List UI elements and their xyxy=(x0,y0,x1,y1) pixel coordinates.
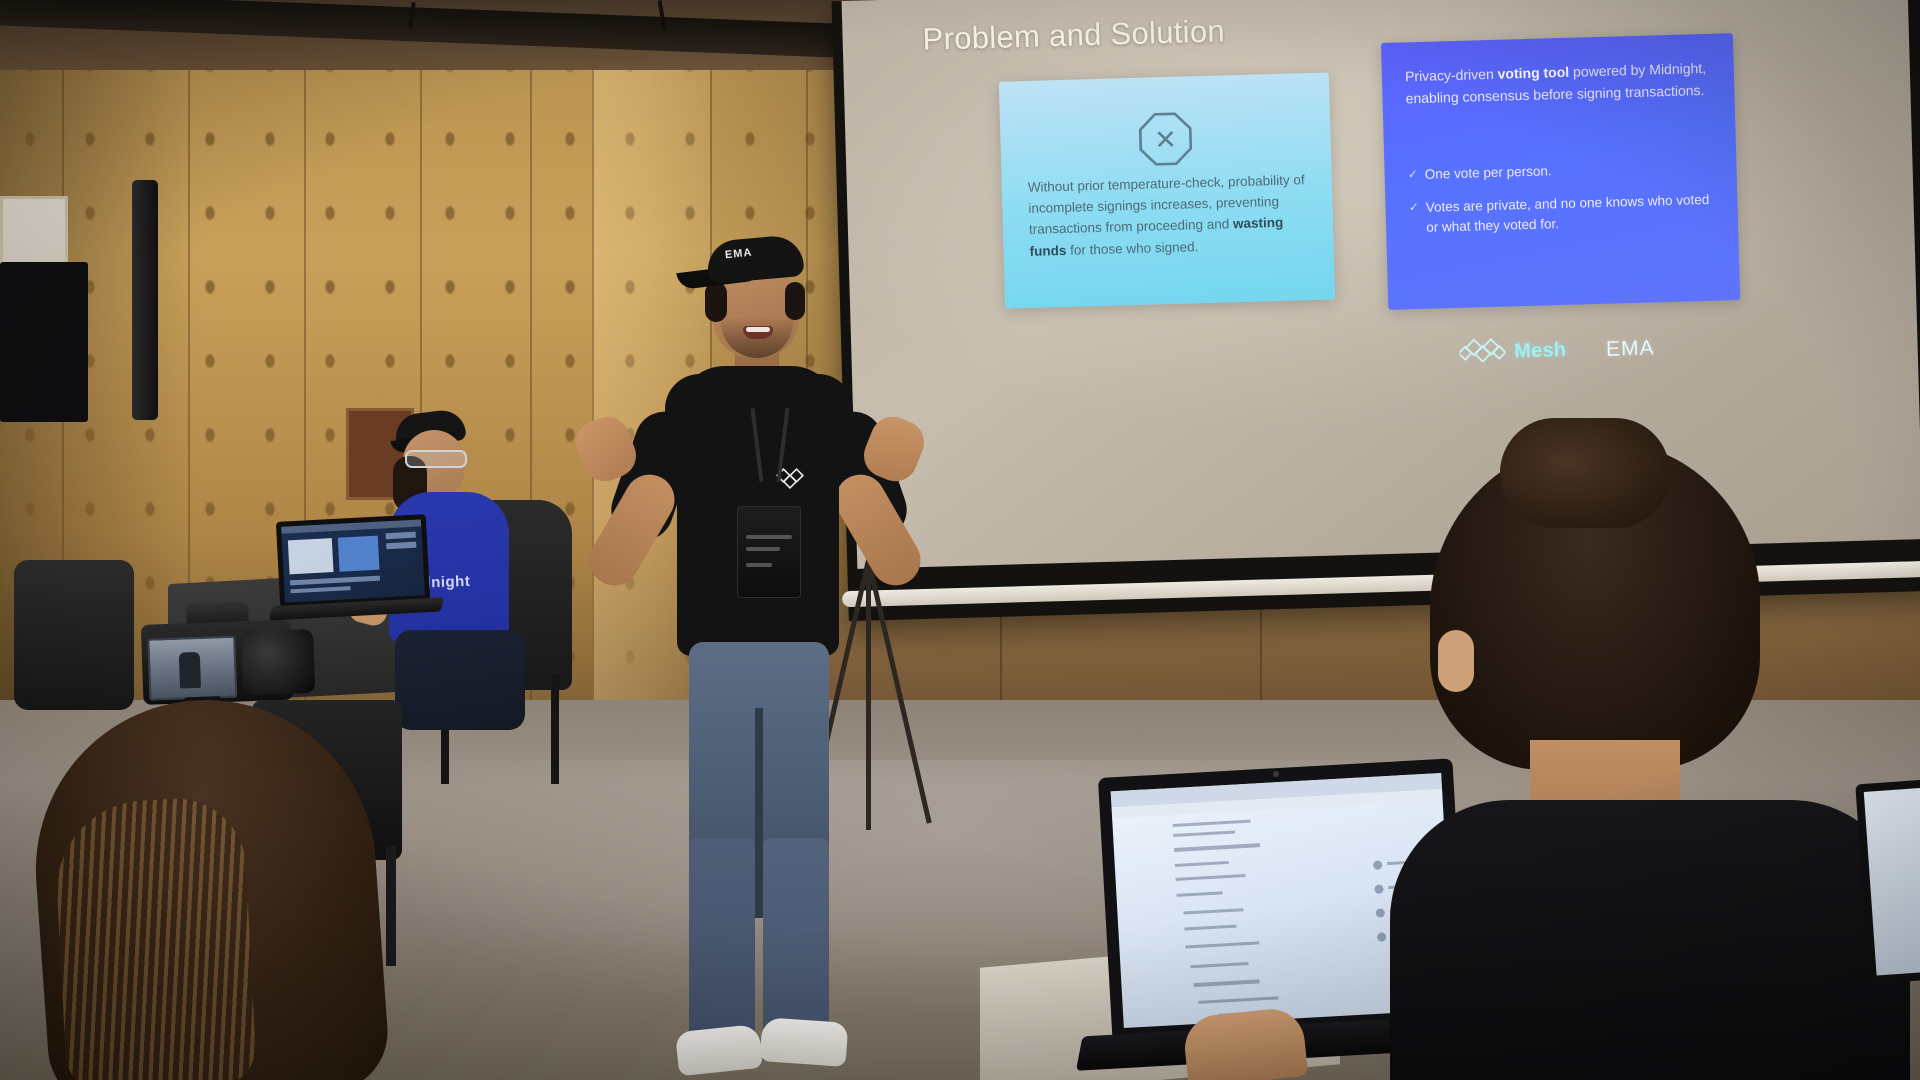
chair xyxy=(14,560,134,710)
stacked-diamonds-icon xyxy=(1459,338,1506,368)
solution-lead-text: Privacy-driven voting tool powered by Mi… xyxy=(1405,57,1717,109)
camera-live-view-screen[interactable] xyxy=(147,636,237,701)
presentation-photo-scene: Problem and Solution Without prior tempe… xyxy=(0,0,1920,1080)
ema-wordmark: EMA xyxy=(1606,336,1655,361)
hair-bun xyxy=(1500,418,1670,528)
problem-text: Without prior temperature-check, probabi… xyxy=(1028,169,1314,262)
live-view-presenter-figure xyxy=(178,652,201,689)
solution-bullet-text: One vote per person. xyxy=(1425,163,1552,182)
ear xyxy=(1438,630,1474,692)
slide-title: Problem and Solution xyxy=(922,13,1225,57)
audience-member-with-laptop xyxy=(1380,440,1920,1080)
solution-card: Privacy-driven voting tool powered by Mi… xyxy=(1381,33,1740,310)
right-shoe xyxy=(760,1017,849,1067)
left-leg xyxy=(689,838,755,1050)
chair-leg xyxy=(386,846,396,966)
webcam-icon xyxy=(1272,771,1278,777)
problem-text-part-3: for those who signed. xyxy=(1066,239,1198,258)
glasses-icon xyxy=(405,450,467,468)
cap xyxy=(705,234,804,284)
check-icon: ✓ xyxy=(1408,165,1419,183)
solution-bullet: ✓ One vote per person. xyxy=(1408,156,1720,185)
torso xyxy=(1390,800,1910,1080)
solution-lead-part-1: Privacy-driven xyxy=(1405,66,1498,85)
slide-logo-row: Mesh EMA xyxy=(1459,333,1655,367)
mouth xyxy=(743,326,773,339)
hair xyxy=(785,282,805,320)
problem-card: Without prior temperature-check, probabi… xyxy=(998,73,1335,309)
solution-bullet-text: Votes are private, and no one knows who … xyxy=(1426,192,1710,235)
legs xyxy=(395,630,525,730)
speaker-column xyxy=(132,180,158,420)
right-leg xyxy=(763,838,829,1050)
right-forearm xyxy=(826,466,929,595)
left-forearm xyxy=(580,466,683,595)
mesh-wordmark: Mesh xyxy=(1514,339,1567,363)
laptop-screen[interactable] xyxy=(1864,781,1920,976)
presenter-speaking: EMA xyxy=(585,238,915,1068)
audience-ponytail xyxy=(53,795,258,1080)
dark-monitor xyxy=(0,262,88,422)
solution-bullet-list: ✓ One vote per person. ✓ Votes are priva… xyxy=(1408,156,1722,251)
camera-lens xyxy=(241,629,315,695)
mesh-logo: Mesh xyxy=(1459,336,1567,368)
octagon-x-icon xyxy=(1137,111,1195,174)
jeans-seam xyxy=(755,708,763,918)
left-shoe xyxy=(675,1024,763,1077)
solution-bullet: ✓ Votes are private, and no one knows wh… xyxy=(1408,189,1720,238)
check-icon: ✓ xyxy=(1408,198,1419,216)
conference-badge xyxy=(737,506,801,598)
solution-lead-emphasis: voting tool xyxy=(1497,64,1569,82)
